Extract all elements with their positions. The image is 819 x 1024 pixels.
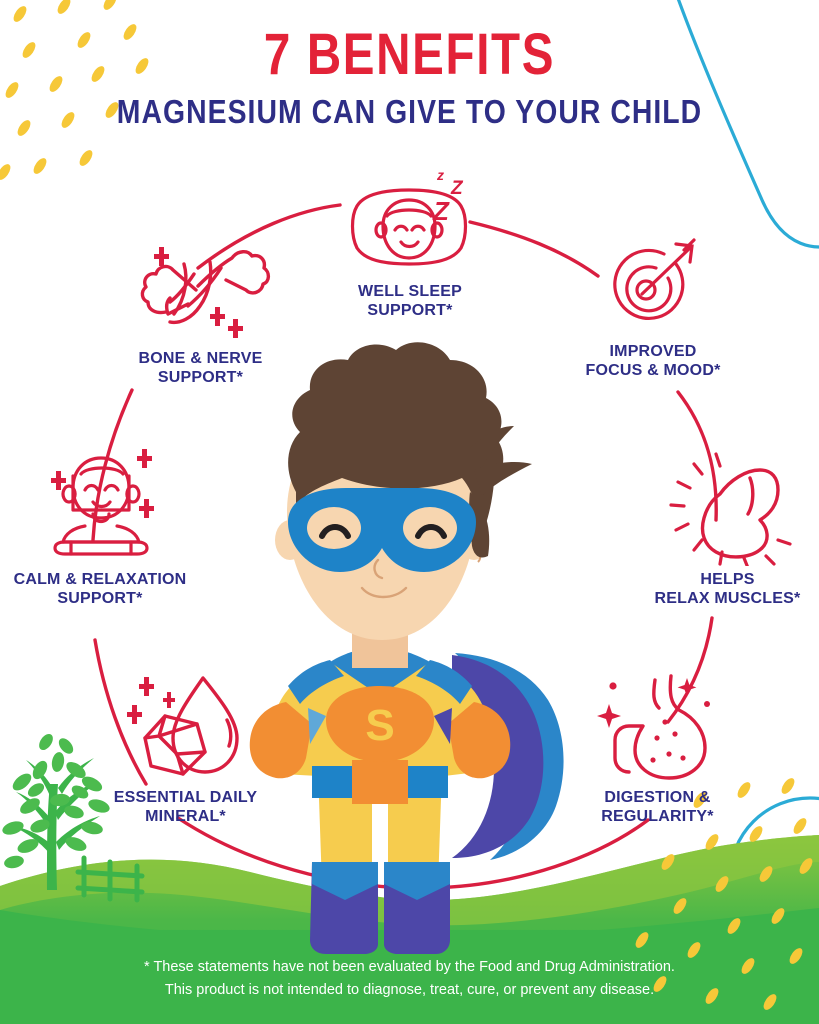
benefit-label: ESSENTIAL DAILY MINERAL* — [93, 788, 278, 826]
benefit-improved-focus[interactable]: IMPROVED FOCUS & MOOD* — [563, 238, 743, 380]
title-block: 7 BENEFITS MAGNESIUM CAN GIVE TO YOUR CH… — [0, 26, 819, 130]
svg-text:z: z — [436, 168, 444, 183]
benefit-label: BONE & NERVE SUPPORT* — [108, 349, 293, 387]
disclaimer-text: * These statements have not been evaluat… — [0, 956, 819, 1002]
belt-buckle — [352, 760, 408, 804]
benefit-label: CALM & RELAXATION SUPPORT* — [0, 570, 205, 608]
benefit-label: HELPS RELAX MUSCLES* — [640, 570, 815, 608]
benefit-label: DIGESTION & REGULARITY* — [565, 788, 750, 826]
benefit-digestion[interactable]: DIGESTION & REGULARITY* — [565, 672, 750, 826]
target-arrow-icon — [563, 238, 743, 338]
infographic-poster: S — [0, 0, 819, 1024]
flexed-bicep-icon — [640, 448, 815, 566]
stomach-icon — [565, 672, 750, 784]
sleeping-face-pillow-icon: Z Z z — [330, 168, 490, 278]
boots — [310, 862, 450, 954]
bone-icon — [108, 240, 293, 345]
benefit-essential-mineral[interactable]: ESSENTIAL DAILY MINERAL* — [93, 672, 278, 826]
water-drop-gem-icon — [93, 672, 278, 784]
page-subtitle: MAGNESIUM CAN GIVE TO YOUR CHILD — [57, 94, 761, 130]
meditating-child-icon — [0, 448, 205, 566]
svg-text:Z: Z — [450, 178, 464, 199]
benefit-well-sleep[interactable]: Z Z z WELL SLEEP SUPPORT* — [330, 168, 490, 320]
benefit-label: IMPROVED FOCUS & MOOD* — [563, 342, 743, 380]
benefit-calm-relaxation[interactable]: CALM & RELAXATION SUPPORT* — [0, 448, 205, 608]
svg-text:Z: Z — [432, 196, 450, 226]
page-title: 7 BENEFITS — [74, 26, 746, 84]
benefit-relax-muscles[interactable]: HELPS RELAX MUSCLES* — [640, 448, 815, 608]
emblem-letter: S — [365, 701, 394, 750]
benefit-bone-nerve[interactable]: BONE & NERVE SUPPORT* — [108, 240, 293, 387]
benefit-label: WELL SLEEP SUPPORT* — [330, 282, 490, 320]
